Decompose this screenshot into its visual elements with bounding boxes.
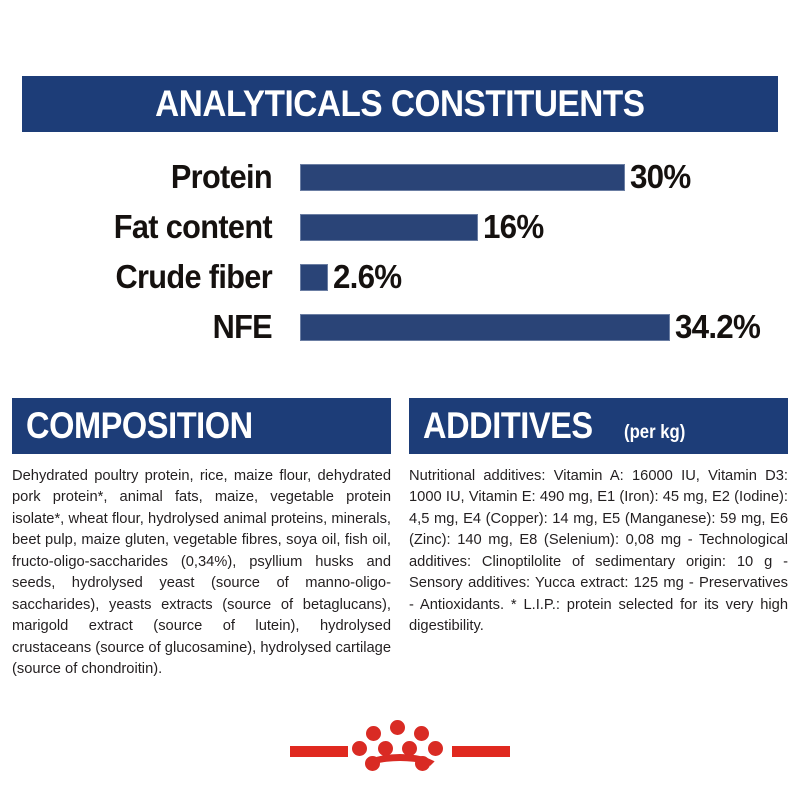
crown-dot: [366, 726, 381, 741]
bar-row: NFE 34.2%: [0, 302, 800, 352]
bar-row: Fat content 16%: [0, 202, 800, 252]
bar-fill-nfe: [300, 314, 670, 341]
analyticals-header-title: ANALYTICALS CONSTITUENTS: [155, 83, 644, 125]
composition-panel: COMPOSITION Dehydrated poultry protein, …: [12, 398, 391, 681]
bar-row: Crude fiber 2.6%: [0, 252, 800, 302]
bar-fill-fat-content: [300, 214, 478, 241]
bar-track-nfe: 34.2%: [272, 308, 800, 346]
crown-dot: [390, 720, 405, 735]
composition-header-band: COMPOSITION: [12, 398, 391, 454]
additives-header-title: ADDITIVES: [423, 398, 593, 454]
info-panels: COMPOSITION Dehydrated poultry protein, …: [12, 398, 788, 681]
additives-header-subtitle: (per kg): [624, 422, 685, 444]
bar-value-crude-fiber: 2.6%: [333, 258, 401, 296]
crown-dot: [352, 741, 367, 756]
bar-value-fat-content: 16%: [483, 208, 543, 246]
composition-header-title: COMPOSITION: [26, 398, 253, 454]
bar-track-crude-fiber: 2.6%: [272, 258, 800, 296]
logo-bar-left: [290, 746, 348, 757]
bar-row: Protein 30%: [0, 152, 800, 202]
logo-bar-right: [452, 746, 510, 757]
additives-panel: ADDITIVES (per kg) Nutritional additives…: [409, 398, 788, 681]
bar-fill-protein: [300, 164, 625, 191]
bar-label-nfe: NFE: [19, 308, 272, 346]
bar-label-crude-fiber: Crude fiber: [19, 258, 272, 296]
bar-label-fat-content: Fat content: [19, 208, 272, 246]
bar-fill-crude-fiber: [300, 264, 328, 291]
composition-text: Dehydrated poultry protein, rice, maize …: [12, 466, 391, 681]
bar-track-fat-content: 16%: [272, 208, 800, 246]
royal-canin-logo: [0, 712, 800, 790]
bar-value-protein: 30%: [630, 158, 690, 196]
additives-text: Nutritional additives: Vitamin A: 16000 …: [409, 466, 788, 638]
crown-icon: [352, 720, 448, 782]
additives-header-band: ADDITIVES (per kg): [409, 398, 788, 454]
crown-arc: [358, 754, 442, 788]
bar-track-protein: 30%: [272, 158, 800, 196]
bar-value-nfe: 34.2%: [675, 308, 760, 346]
analyticals-header-band: ANALYTICALS CONSTITUENTS: [22, 76, 778, 132]
crown-dot: [414, 726, 429, 741]
crown-dot: [428, 741, 443, 756]
analyticals-bar-chart: Protein 30% Fat content 16% Crude fiber …: [0, 152, 800, 352]
bar-label-protein: Protein: [19, 158, 272, 196]
